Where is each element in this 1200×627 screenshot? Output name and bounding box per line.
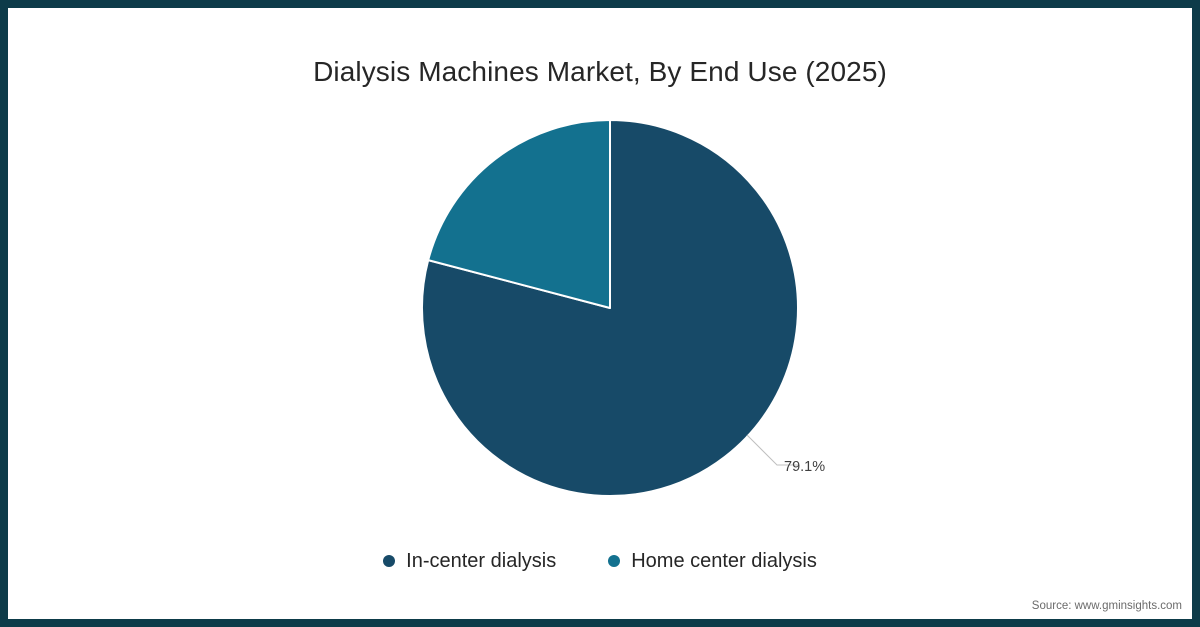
slice-data-label-in-center: 79.1% [784,459,825,475]
chart-legend: In-center dialysis Home center dialysis [8,551,1192,571]
legend-item-label: Home center dialysis [631,551,817,571]
leader-line [747,435,798,465]
page-title: Dialysis Machines Market, By End Use (20… [8,56,1192,88]
legend-color-dot-icon [383,555,395,567]
legend-color-dot-icon [608,555,620,567]
legend-item-label: In-center dialysis [406,551,556,571]
legend-item-in-center-dialysis[interactable]: In-center dialysis [383,551,556,571]
pie-slice-in-center-dialysis[interactable] [422,120,798,496]
pie-chart-area: 79.1% [8,8,1192,619]
pie-slice-home-center-dialysis[interactable] [428,120,610,308]
chart-page: Dialysis Machines Market, By End Use (20… [0,0,1200,627]
pie-slices-group [422,120,798,496]
pie-chart-svg: 79.1% [8,8,1192,619]
leader-line-group [747,435,798,465]
source-attribution: Source: www.gminsights.com [1032,600,1182,612]
legend-item-home-center-dialysis[interactable]: Home center dialysis [608,551,817,571]
